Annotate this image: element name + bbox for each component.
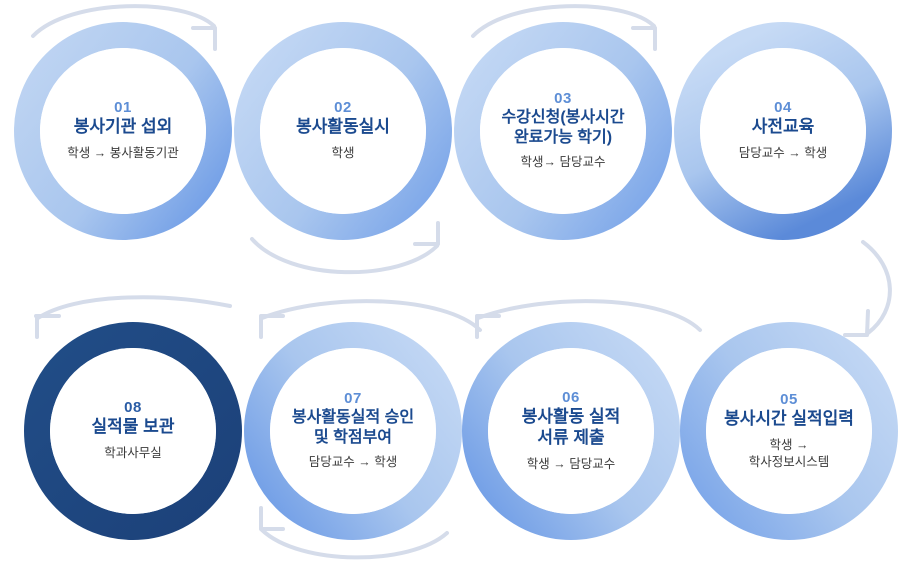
step-face-08: 08 실적물 보관 학과사무실 [50,348,216,514]
step-number: 04 [774,100,792,117]
step-title: 실적물 보관 [92,417,175,438]
step-number: 01 [114,100,132,117]
step-face-07: 07 봉사활동실적 승인 및 학점부여 담당교수 → 학생 [270,348,436,514]
step-node-06[interactable]: 06 봉사활동 실적 서류 제출 학생 → 담당교수 [462,322,680,540]
step-number: 07 [344,391,362,408]
step-actor: 학생 [331,145,354,162]
step-title: 봉사기관 섭외 [74,117,173,138]
step-node-05[interactable]: 05 봉사시간 실적입력 학생 → 학사정보시스템 [680,322,898,540]
step-face-05: 05 봉사시간 실적입력 학생 → 학사정보시스템 [706,348,872,514]
step-face-02: 02 봉사활동실시 학생 [260,48,426,214]
step-actor: 담당교수 → 학생 [739,145,827,162]
step-actor: 학생 → 담당교수 [527,456,615,473]
step-actor: 학과사무실 [104,445,162,462]
step-actor: 학생 → 봉사활동기관 [67,145,178,162]
step-number: 03 [554,91,572,108]
step-number: 02 [334,100,352,117]
step-title: 사전교육 [752,117,815,138]
step-actor: 담당교수 → 학생 [309,454,397,471]
step-actor: 학생 → 학사정보시스템 [749,437,830,471]
step-number: 06 [562,390,580,407]
step-face-04: 04 사전교육 담당교수 → 학생 [700,48,866,214]
step-title: 수강신청(봉사시간 완료가능 학기) [501,108,624,147]
step-title: 봉사활동실시 [296,117,390,138]
step-number: 08 [124,400,142,417]
step-face-01: 01 봉사기관 섭외 학생 → 봉사활동기관 [40,48,206,214]
process-flow-diagram: 01 봉사기관 섭외 학생 → 봉사활동기관 02 봉사활동실시 학생 [0,0,915,566]
step-title: 봉사시간 실적입력 [724,409,854,430]
step-node-02[interactable]: 02 봉사활동실시 학생 [234,22,452,240]
step-node-01[interactable]: 01 봉사기관 섭외 학생 → 봉사활동기관 [14,22,232,240]
step-node-08[interactable]: 08 실적물 보관 학과사무실 [24,322,242,540]
step-title: 봉사활동 실적 서류 제출 [522,407,621,448]
step-number: 05 [780,392,798,409]
step-title: 봉사활동실적 승인 및 학점부여 [292,408,414,447]
step-face-06: 06 봉사활동 실적 서류 제출 학생 → 담당교수 [488,348,654,514]
step-node-04[interactable]: 04 사전교육 담당교수 → 학생 [674,22,892,240]
step-node-03[interactable]: 03 수강신청(봉사시간 완료가능 학기) 학생→ 담당교수 [454,22,672,240]
step-actor: 학생→ 담당교수 [521,154,606,171]
step-face-03: 03 수강신청(봉사시간 완료가능 학기) 학생→ 담당교수 [480,48,646,214]
step-node-07[interactable]: 07 봉사활동실적 승인 및 학점부여 담당교수 → 학생 [244,322,462,540]
